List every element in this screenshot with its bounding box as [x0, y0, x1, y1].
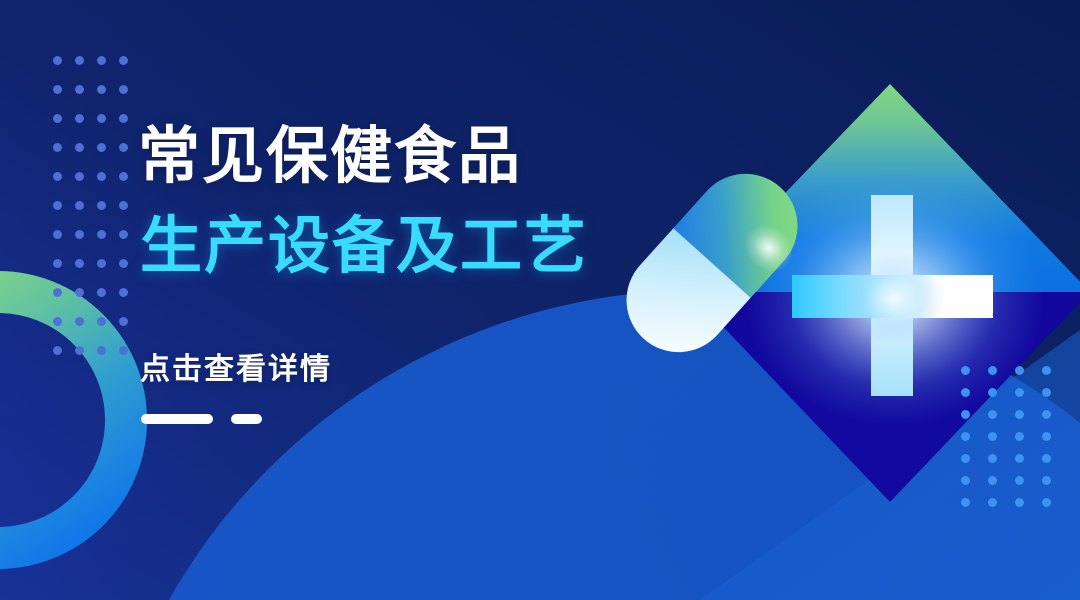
cta-subtitle[interactable]: 点击查看详情 [140, 344, 658, 388]
text-block: 常见保健食品 生产设备及工艺 点击查看详情 [138, 126, 658, 424]
promo-banner[interactable]: 常见保健食品 生产设备及工艺 点击查看详情 [0, 0, 1080, 600]
headline-line2: 生产设备及工艺 [140, 216, 658, 278]
dash-long [141, 414, 213, 424]
headline-line1: 常见保健食品 [138, 126, 658, 188]
dash-short [231, 414, 262, 424]
dash-underline-group [141, 414, 658, 424]
